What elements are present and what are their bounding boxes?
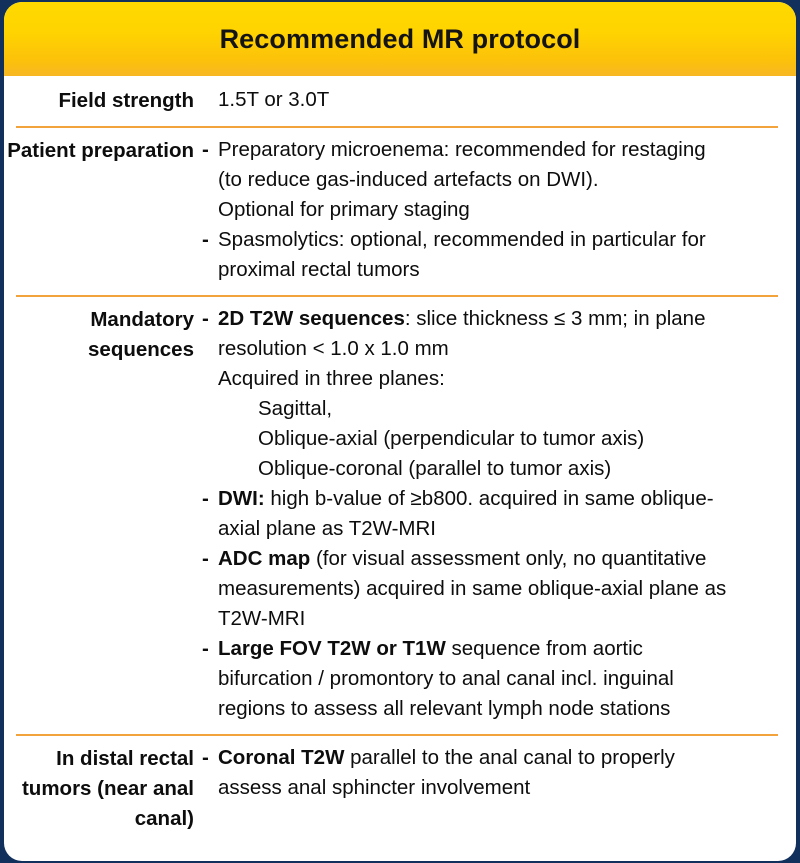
- line-text: (to reduce gas-induced artefacts on DWI)…: [218, 168, 599, 191]
- table-row: Field strength1.5T or 3.0T: [4, 76, 796, 126]
- bullet-text: DWI: high b-value of ≥b800. acquired in …: [218, 484, 780, 514]
- line-text: Preparatory microenema: recommended for …: [218, 138, 706, 161]
- bullet-dash-icon: -: [202, 135, 216, 165]
- line-text: assess anal sphincter involvement: [218, 776, 530, 799]
- page-title: Recommended MR protocol: [220, 24, 581, 55]
- bullet-text: Preparatory microenema: recommended for …: [218, 135, 780, 165]
- line-text: regions to assess all relevant lymph nod…: [218, 697, 670, 720]
- bullet-item: -Preparatory microenema: recommended for…: [202, 135, 780, 165]
- continuation-line: axial plane as T2W-MRI: [202, 514, 780, 544]
- bullet-dash-icon: -: [202, 304, 216, 334]
- line-text: bifurcation / promontory to anal canal i…: [218, 667, 674, 690]
- bullet-text: 2D T2W sequences: slice thickness ≤ 3 mm…: [218, 304, 780, 334]
- bullet-item: -2D T2W sequences: slice thickness ≤ 3 m…: [202, 304, 780, 334]
- bullet-dash-icon: -: [202, 743, 216, 773]
- bullet-dash-icon: -: [202, 225, 216, 255]
- bullet-item: -Large FOV T2W or T1W sequence from aort…: [202, 634, 780, 664]
- bullet-text: ADC map (for visual assessment only, no …: [218, 544, 780, 574]
- line-text: T2W-MRI: [218, 607, 305, 630]
- continuation-line: Optional for primary staging: [202, 195, 780, 225]
- sub-item: Oblique-coronal (parallel to tumor axis): [202, 454, 780, 484]
- line-text: Acquired in three planes:: [218, 367, 445, 390]
- line-text: : slice thickness ≤ 3 mm; in plane: [405, 307, 706, 330]
- table-row: In distal rectal tumors (near anal canal…: [4, 734, 796, 844]
- emphasis-text: 2D T2W sequences: [218, 307, 405, 330]
- bullet-item: -DWI: high b-value of ≥b800. acquired in…: [202, 484, 780, 514]
- continuation-line: measurements) acquired in same oblique-a…: [202, 574, 780, 604]
- continuation-line: (to reduce gas-induced artefacts on DWI)…: [202, 165, 780, 195]
- line-text: measurements) acquired in same oblique-a…: [218, 577, 726, 600]
- line-text: (for visual assessment only, no quantita…: [310, 547, 706, 570]
- line-text: Optional for primary staging: [218, 198, 470, 221]
- row-label: Patient preparation: [4, 135, 194, 166]
- continuation-line: assess anal sphincter involvement: [202, 773, 780, 803]
- protocol-table: Field strength1.5T or 3.0TPatient prepar…: [4, 76, 796, 844]
- line-text: resolution < 1.0 x 1.0 mm: [218, 337, 449, 360]
- table-row: Mandatory sequences-2D T2W sequences: sl…: [4, 295, 796, 734]
- line-text: proximal rectal tumors: [218, 258, 420, 281]
- emphasis-text: DWI:: [218, 487, 265, 510]
- line-text: Spasmolytics: optional, recommended in p…: [218, 228, 706, 251]
- bullet-dash-icon: -: [202, 544, 216, 574]
- continuation-line: bifurcation / promontory to anal canal i…: [202, 664, 780, 694]
- row-content: 1.5T or 3.0T: [194, 85, 796, 115]
- continuation-line: T2W-MRI: [202, 604, 780, 634]
- bullet-dash-icon: -: [202, 634, 216, 664]
- line-text: Oblique-coronal (parallel to tumor axis): [258, 457, 611, 480]
- row-label: In distal rectal tumors (near anal canal…: [4, 743, 194, 834]
- sub-item: Sagittal,: [202, 394, 780, 424]
- bullet-text: Coronal T2W parallel to the anal canal t…: [218, 743, 780, 773]
- emphasis-text: Large FOV T2W or T1W: [218, 637, 446, 660]
- row-label: Field strength: [4, 85, 194, 116]
- card-header: Recommended MR protocol: [4, 2, 796, 76]
- emphasis-text: Coronal T2W: [218, 746, 344, 769]
- sub-item: Oblique-axial (perpendicular to tumor ax…: [202, 424, 780, 454]
- bullet-text: Large FOV T2W or T1W sequence from aorti…: [218, 634, 780, 664]
- bullet-item: -ADC map (for visual assessment only, no…: [202, 544, 780, 574]
- bullet-item: -Coronal T2W parallel to the anal canal …: [202, 743, 780, 773]
- continuation-line: regions to assess all relevant lymph nod…: [202, 694, 780, 724]
- line-text: Oblique-axial (perpendicular to tumor ax…: [258, 427, 644, 450]
- continuation-line: resolution < 1.0 x 1.0 mm: [202, 334, 780, 364]
- protocol-card: Recommended MR protocol Field strength1.…: [4, 2, 796, 861]
- value-text: 1.5T or 3.0T: [202, 85, 780, 115]
- line-text: 1.5T or 3.0T: [218, 88, 329, 111]
- row-content: -Coronal T2W parallel to the anal canal …: [194, 743, 796, 803]
- emphasis-text: ADC map: [218, 547, 310, 570]
- bullet-text: Spasmolytics: optional, recommended in p…: [218, 225, 780, 255]
- bullet-dash-icon: -: [202, 484, 216, 514]
- line-text: high b-value of ≥b800. acquired in same …: [265, 487, 714, 510]
- row-content: -Preparatory microenema: recommended for…: [194, 135, 796, 285]
- line-text: Sagittal,: [258, 397, 332, 420]
- table-row: Patient preparation-Preparatory microene…: [4, 126, 796, 295]
- line-text: parallel to the anal canal to properly: [344, 746, 674, 769]
- continuation-line: Acquired in three planes:: [202, 364, 780, 394]
- line-text: sequence from aortic: [446, 637, 643, 660]
- row-content: -2D T2W sequences: slice thickness ≤ 3 m…: [194, 304, 796, 724]
- continuation-line: proximal rectal tumors: [202, 255, 780, 285]
- line-text: axial plane as T2W-MRI: [218, 517, 436, 540]
- row-label: Mandatory sequences: [4, 304, 194, 365]
- bullet-item: -Spasmolytics: optional, recommended in …: [202, 225, 780, 255]
